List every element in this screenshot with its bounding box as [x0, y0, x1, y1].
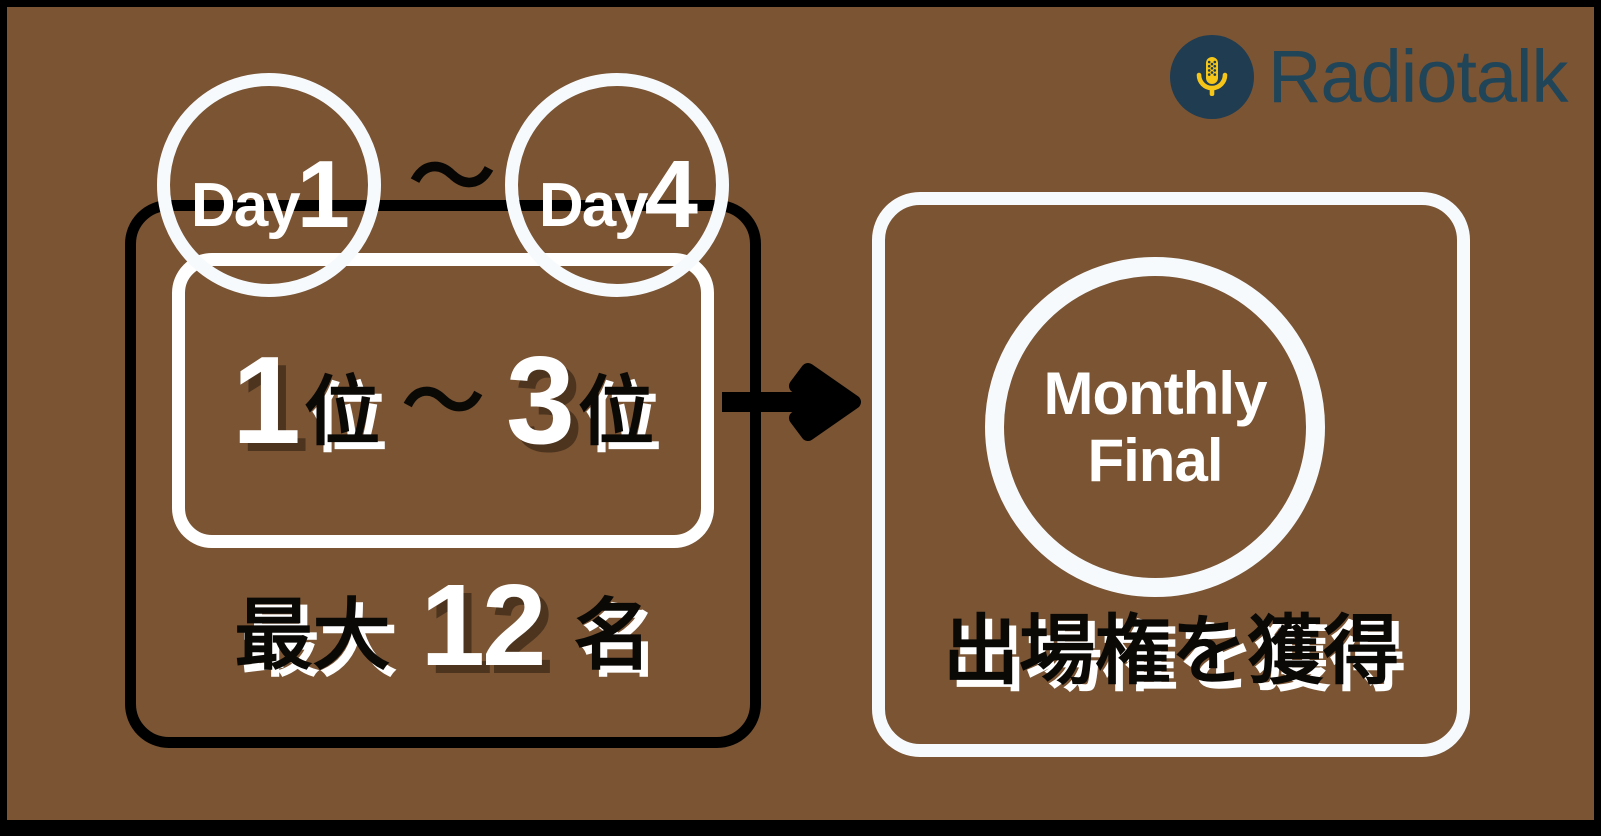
poster-background: Radiotalk 1 位 〜 3 位 Day 1 〜 Day 4 最大	[7, 7, 1594, 820]
monthly-final-line1: Monthly	[1044, 360, 1267, 427]
rank-range: 1 位 〜 3 位	[172, 253, 714, 548]
day-start-number: 1	[297, 147, 347, 243]
day-end-number: 4	[645, 147, 695, 243]
poster-canvas: Radiotalk 1 位 〜 3 位 Day 1 〜 Day 4 最大	[0, 0, 1601, 836]
day-badge-start: Day 1	[157, 73, 381, 297]
capacity-suffix: 名	[574, 596, 652, 674]
qualification-caption-text: 出場権を獲得	[943, 614, 1399, 690]
radiotalk-logo: Radiotalk	[1170, 35, 1568, 119]
capacity-text: 最大 12 名	[125, 567, 761, 683]
qualification-caption: 出場権を獲得	[872, 602, 1470, 678]
capacity-prefix: 最大	[234, 596, 390, 674]
rank-from-number: 1	[232, 339, 298, 463]
day-range-separator: 〜	[402, 135, 502, 221]
day-end-prefix: Day	[539, 175, 647, 237]
rank-to-number: 3	[506, 339, 572, 463]
logo-wordmark: Radiotalk	[1268, 40, 1568, 114]
microphone-icon	[1170, 35, 1254, 119]
monthly-final-badge: Monthly Final	[985, 257, 1325, 597]
arrow-right-icon	[722, 362, 862, 442]
rank-from-unit: 位	[304, 375, 380, 451]
rank-to-unit: 位	[578, 375, 654, 451]
day-start-prefix: Day	[191, 175, 299, 237]
monthly-final-line2: Final	[1087, 427, 1222, 494]
rank-separator: 〜	[402, 362, 484, 444]
day-badge-end: Day 4	[505, 73, 729, 297]
capacity-number: 12	[420, 567, 543, 683]
